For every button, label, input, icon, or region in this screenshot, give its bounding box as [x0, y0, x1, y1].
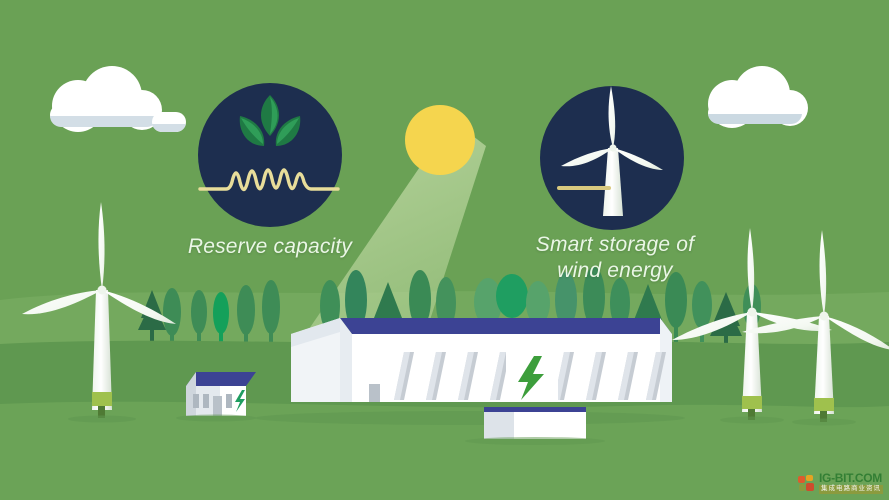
illustration-canvas: Reserve capacity Smart storage of wind e…	[0, 0, 889, 500]
sun-icon	[405, 105, 475, 175]
badge-smart-storage[interactable]	[540, 86, 684, 230]
watermark-title: IG-BIT.COM	[819, 472, 883, 484]
badge-label-smart-storage: Smart storage of wind energy	[500, 232, 730, 284]
badge-reserve-capacity[interactable]	[198, 83, 342, 227]
badge-label-reserve-capacity: Reserve capacity	[160, 234, 380, 260]
cloud-left-small	[152, 112, 186, 132]
baseline-dash-icon	[557, 186, 611, 190]
landscape-layer	[0, 0, 889, 500]
front-platform	[465, 407, 605, 445]
watermark-subtitle: 集成电路商业资讯	[819, 485, 883, 494]
watermark: IG-BIT.COM 集成电路商业资讯	[798, 471, 883, 495]
ig-bit-logo-icon	[798, 475, 815, 492]
